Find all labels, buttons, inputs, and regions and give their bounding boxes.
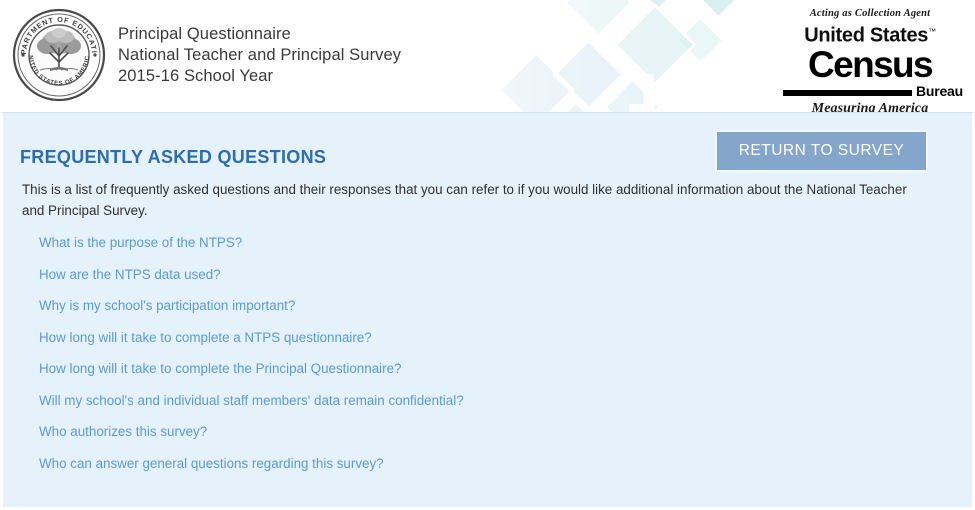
- census-tagline: Measuring America: [777, 101, 963, 112]
- census-rule-bar: [783, 90, 912, 96]
- faq-heading: FREQUENTLY ASKED QUESTIONS: [20, 147, 326, 168]
- title-line-2: National Teacher and Principal Survey: [118, 45, 401, 66]
- faq-link-time-ntps-questionnaire[interactable]: How long will it take to complete a NTPS…: [39, 330, 372, 346]
- census-bureau-label: Bureau: [916, 84, 963, 98]
- faq-intro-text: This is a list of frequently asked quest…: [22, 179, 912, 221]
- faq-link-data-confidential[interactable]: Will my school's and individual staff me…: [39, 393, 464, 409]
- faq-link-purpose-of-ntps[interactable]: What is the purpose of the NTPS?: [39, 235, 242, 251]
- department-of-education-seal-icon: DEPARTMENT OF EDUCATION UNITED STATES OF…: [10, 6, 108, 104]
- faq-link-who-can-answer[interactable]: Who can answer general questions regardi…: [39, 456, 384, 472]
- trademark-icon: ™: [928, 27, 936, 36]
- census-bar-row: Bureau: [777, 84, 963, 98]
- page-title: Principal Questionnaire National Teacher…: [118, 24, 401, 87]
- faq-content-panel: FREQUENTLY ASKED QUESTIONS RETURN TO SUR…: [0, 112, 975, 510]
- faq-link-time-principal-questionnaire[interactable]: How long will it take to complete the Pr…: [39, 361, 401, 377]
- return-to-survey-button[interactable]: RETURN TO SURVEY: [715, 130, 928, 172]
- census-bureau-logo: Acting as Collection Agent United States…: [777, 8, 963, 104]
- faq-link-how-data-used[interactable]: How are the NTPS data used?: [39, 267, 221, 283]
- page-header: DEPARTMENT OF EDUCATION UNITED STATES OF…: [0, 0, 975, 112]
- faq-link-participation-important[interactable]: Why is my school's participation importa…: [39, 298, 295, 314]
- faq-question-list: What is the purpose of the NTPS? How are…: [39, 235, 939, 487]
- census-wordmark: Census: [777, 48, 963, 82]
- census-acting-as-collection-agent: Acting as Collection Agent: [777, 8, 963, 20]
- title-line-3: 2015-16 School Year: [118, 66, 401, 87]
- census-united-states: United States™: [804, 21, 936, 47]
- title-line-1: Principal Questionnaire: [118, 24, 401, 45]
- faq-page: DEPARTMENT OF EDUCATION UNITED STATES OF…: [0, 0, 975, 510]
- faq-link-who-authorizes[interactable]: Who authorizes this survey?: [39, 424, 207, 440]
